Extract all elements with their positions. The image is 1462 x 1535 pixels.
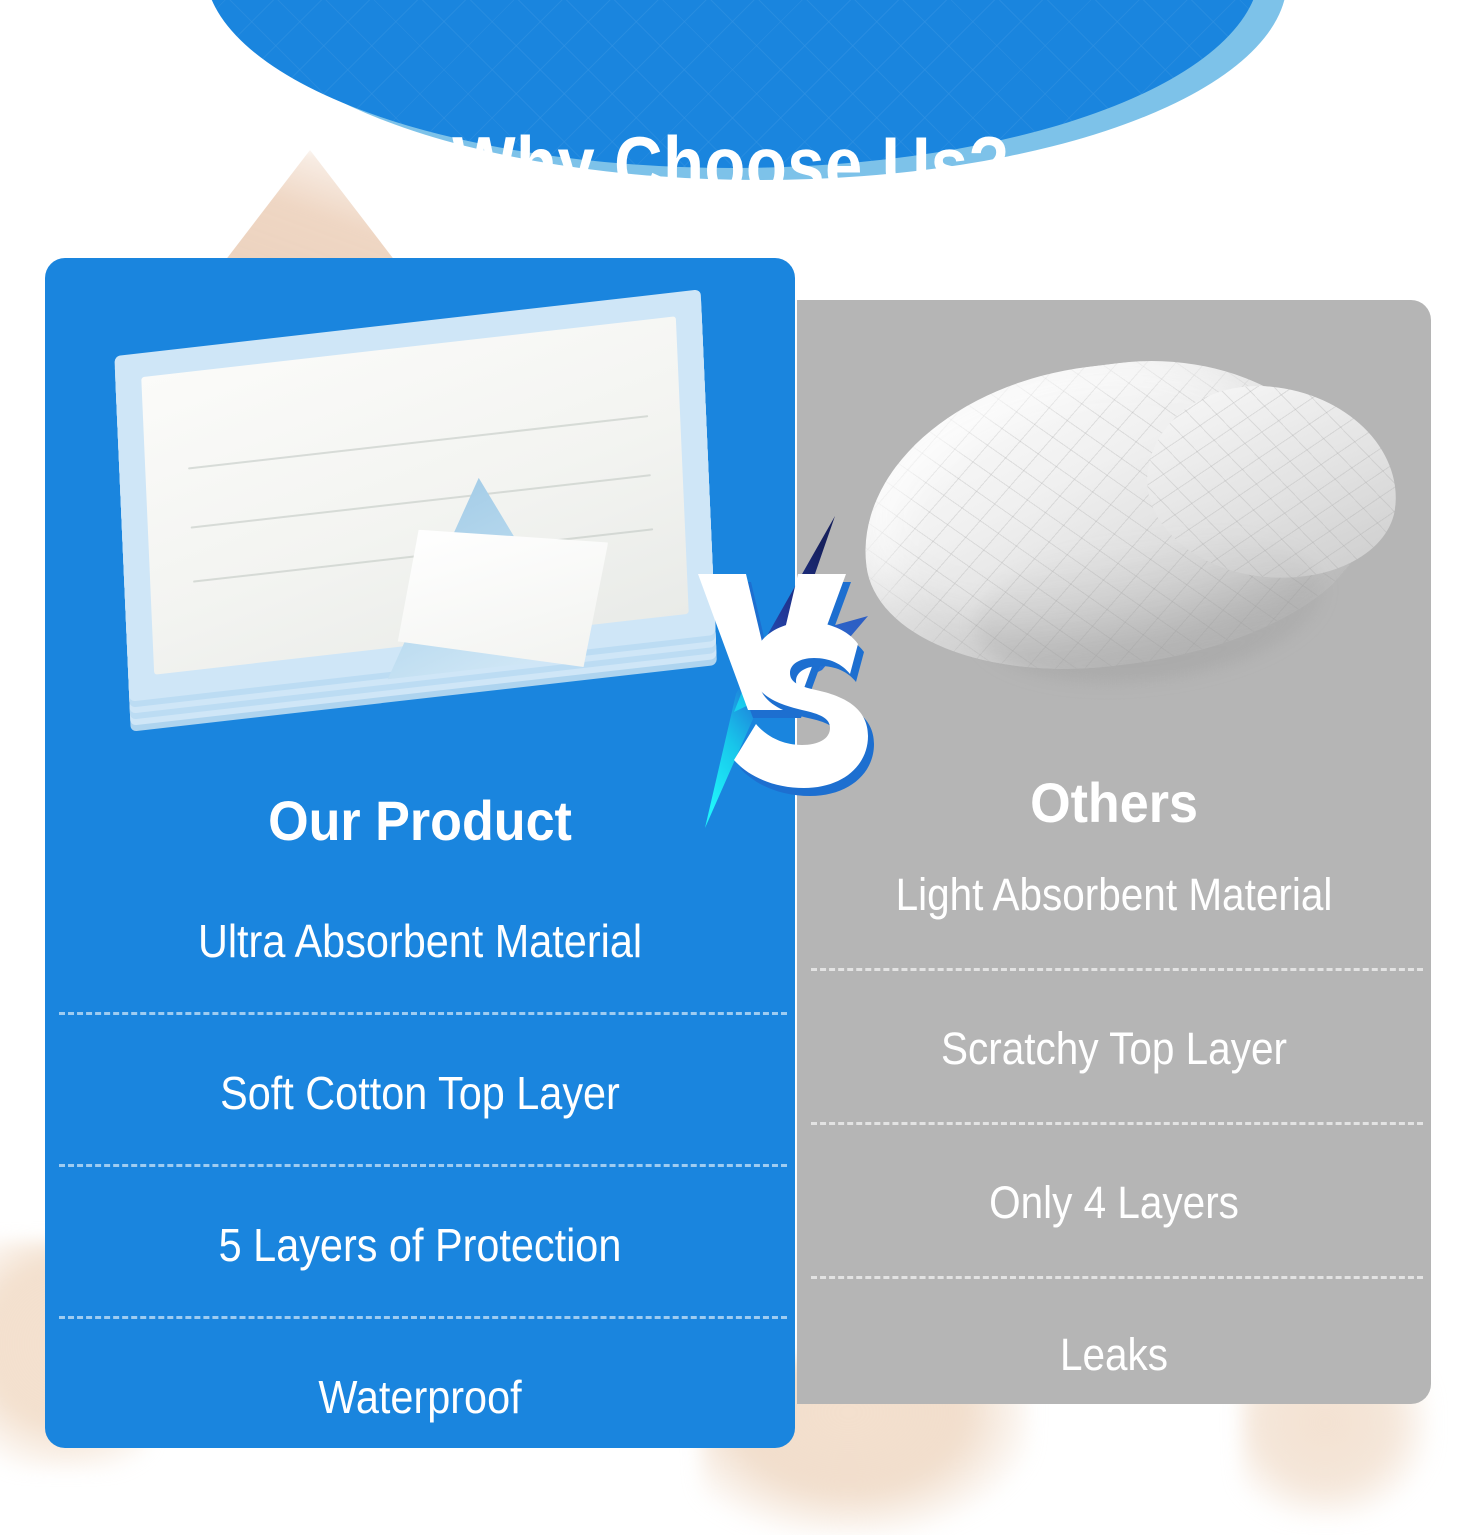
crumpled-pad-illustration — [846, 336, 1379, 695]
others-feature-3: Only 4 Layers — [829, 1180, 1400, 1225]
page-title: Why Choose Us? — [102, 125, 1359, 203]
our-feature-3: 5 Layers of Protection — [83, 1222, 758, 1268]
pad-crease — [191, 475, 651, 529]
our-feature-2: Soft Cotton Top Layer — [83, 1070, 758, 1116]
others-feature-4: Leaks — [829, 1332, 1400, 1377]
underpad-stack-illustration — [114, 289, 715, 701]
our-divider-1 — [59, 1012, 787, 1015]
our-divider-2 — [59, 1164, 787, 1167]
others-divider-2 — [811, 1122, 1423, 1125]
others-feature-2: Scratchy Top Layer — [829, 1026, 1400, 1071]
others-divider-3 — [811, 1276, 1423, 1279]
our-product-heading: Our Product — [71, 793, 769, 849]
vs-badge — [672, 498, 922, 843]
our-divider-3 — [59, 1316, 787, 1319]
header-banner: Why Choose Us? — [0, 0, 1462, 215]
others-divider-1 — [811, 968, 1423, 971]
our-product-panel: Our Product Ultra Absorbent Material Sof… — [45, 258, 795, 1448]
our-feature-1: Ultra Absorbent Material — [83, 918, 758, 964]
our-feature-4: Waterproof — [83, 1374, 758, 1420]
others-feature-1: Light Absorbent Material — [829, 872, 1400, 917]
pad-crease — [188, 415, 648, 469]
others-panel: Others Light Absorbent Material Scratchy… — [797, 300, 1431, 1404]
our-product-image — [65, 288, 775, 708]
